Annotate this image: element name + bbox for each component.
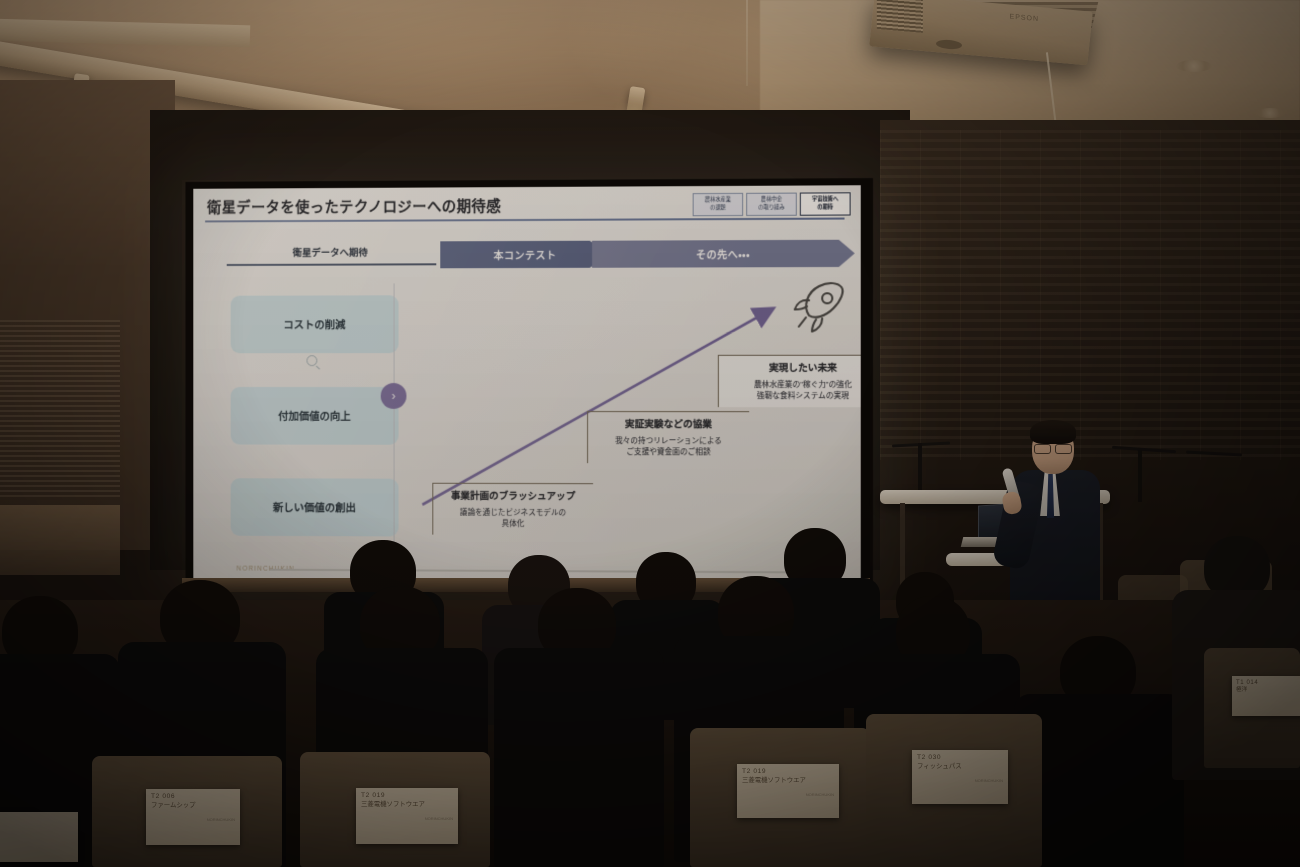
callout-heading: 実現したい未来 <box>719 360 861 374</box>
seat-card-org: ファームシップ <box>151 802 235 811</box>
slide-tab-norinchukin-efforts: 農林中金 の取り組み <box>746 193 797 216</box>
left-column-header: 衛星データへ期待 <box>246 244 414 259</box>
seat-card-org: 極洋 <box>1236 687 1300 695</box>
expectation-box-cost: コストの削減 <box>231 295 399 353</box>
left-column-header-underline <box>227 263 437 265</box>
slide-section-tabs: 農林水産業 の課題 農林中金 の取り組み 宇宙技術へ の期待 <box>693 192 851 216</box>
seat-name-card: T2 006 ファームシップ NORINCHUKIN <box>146 789 240 845</box>
seat-card-footer-logo: NORINCHUKIN <box>917 778 1003 783</box>
tab-line-1: 農林水産業 <box>705 197 731 205</box>
projector-vent-grille <box>877 0 923 33</box>
ceiling-downlight <box>1176 60 1212 72</box>
callout-body-line: 具体化 <box>433 518 593 530</box>
chevron-right-icon: › <box>381 383 407 409</box>
expectation-box-new-value: 新しい価値の創出 <box>231 478 399 536</box>
callout-collaboration: 実証実験などの協業 我々の持つリレーションによる ご支援や資金面のご相談 <box>587 411 749 463</box>
slide-title: 衛星データを使ったテクノロジーへの期待感 <box>207 195 501 217</box>
seat-name-card: T1 014 極洋 <box>1232 676 1300 716</box>
callout-body-line: 強靭な食料システムの実現 <box>719 390 861 401</box>
presenter-hair <box>1030 420 1076 444</box>
mic-stand <box>918 443 922 491</box>
magnifier-icon <box>306 355 317 366</box>
right-wall-panel-texture <box>880 130 1300 460</box>
window-blinds <box>0 320 120 500</box>
seat-name-card: T2 019 三菱電機ソフトウエア NORINCHUKIN <box>737 764 839 818</box>
seat-card-org: 三菱電機ソフトウエア <box>361 801 453 810</box>
callout-body-line: ご支援や資金面のご相談 <box>588 446 749 457</box>
seat-name-card: T2 019 三菱電機ソフトウエア NORINCHUKIN <box>356 788 458 844</box>
expectation-box-value: 付加価値の向上 <box>231 387 399 445</box>
tab-line-1: 農林中金 <box>761 196 782 204</box>
seat-card-code: T2 006 <box>151 793 235 802</box>
slide-tab-space-tech-expectation: 宇宙技術へ の期待 <box>800 192 851 215</box>
tab-line-1: 宇宙技術へ <box>812 196 838 204</box>
callout-business-plan: 事業計画のブラッシュアップ 議論を通じたビジネスモデルの 具体化 <box>432 483 593 536</box>
seat-name-card-blank <box>0 812 78 862</box>
slide-title-underline <box>205 218 844 223</box>
left-wall-lower-panel <box>0 505 120 575</box>
tab-line-2: の課題 <box>710 205 726 213</box>
phase-chevron-beyond: その先へ・・・ <box>592 240 855 268</box>
presentation-slide: 衛星データを使ったテクノロジーへの期待感 農林水産業 の課題 農林中金 の取り組… <box>193 185 860 583</box>
rocket-icon <box>789 278 848 335</box>
projector-brand-label: EPSON <box>1010 14 1040 24</box>
ceiling-downlight <box>1255 108 1285 118</box>
mic-stand <box>1138 450 1142 502</box>
callout-body-line: 議論を通じたビジネスモデルの <box>433 507 593 519</box>
seat-card-footer-logo: NORINCHUKIN <box>151 817 235 822</box>
seat-name-card: T2 030 フィッシュパス NORINCHUKIN <box>912 750 1008 804</box>
callout-heading: 実証実験などの協業 <box>588 416 749 430</box>
tab-line-2: の期待 <box>817 204 833 212</box>
seat-card-code: T1 014 <box>1236 679 1300 687</box>
ceiling-hanging-wire <box>746 0 748 86</box>
slide-tab-agriculture-issues: 農林水産業 の課題 <box>693 193 743 216</box>
callout-body: 我々の持つリレーションによる ご支援や資金面のご相談 <box>588 435 749 457</box>
callout-body: 農林水産業の"稼ぐ力"の強化 強靭な食料システムの実現 <box>719 379 861 401</box>
callout-body-line: 我々の持つリレーションによる <box>588 435 749 446</box>
seat-card-code: T2 019 <box>742 768 834 777</box>
tab-line-2: の取り組み <box>758 204 784 212</box>
phase-chevron-contest: 本コンテスト <box>440 241 610 269</box>
projection-screen: 衛星データを使ったテクノロジーへの期待感 農林水産業 の課題 農林中金 の取り組… <box>185 178 873 592</box>
glasses-icon <box>1034 444 1072 452</box>
callout-body: 議論を通じたビジネスモデルの 具体化 <box>433 507 593 530</box>
seat-card-org: フィッシュパス <box>917 763 1003 772</box>
photo-scene: EPSON 衛星データを使ったテクノロジーへの期待感 農林水産業 の課題 <box>0 0 1300 867</box>
callout-future-vision: 実現したい未来 農林水産業の"稼ぐ力"の強化 強靭な食料システムの実現 <box>718 355 861 408</box>
seat-card-org: 三菱電機ソフトウエア <box>742 777 834 786</box>
seat-card-footer-logo: NORINCHUKIN <box>361 816 453 821</box>
seat-card-footer-logo: NORINCHUKIN <box>742 792 834 797</box>
column-divider <box>394 283 395 572</box>
callout-heading: 事業計画のブラッシュアップ <box>433 488 593 502</box>
seat-card-code: T2 019 <box>361 792 453 801</box>
callout-body-line: 農林水産業の"稼ぐ力"の強化 <box>719 379 861 390</box>
seat-card-code: T2 030 <box>917 754 1003 763</box>
